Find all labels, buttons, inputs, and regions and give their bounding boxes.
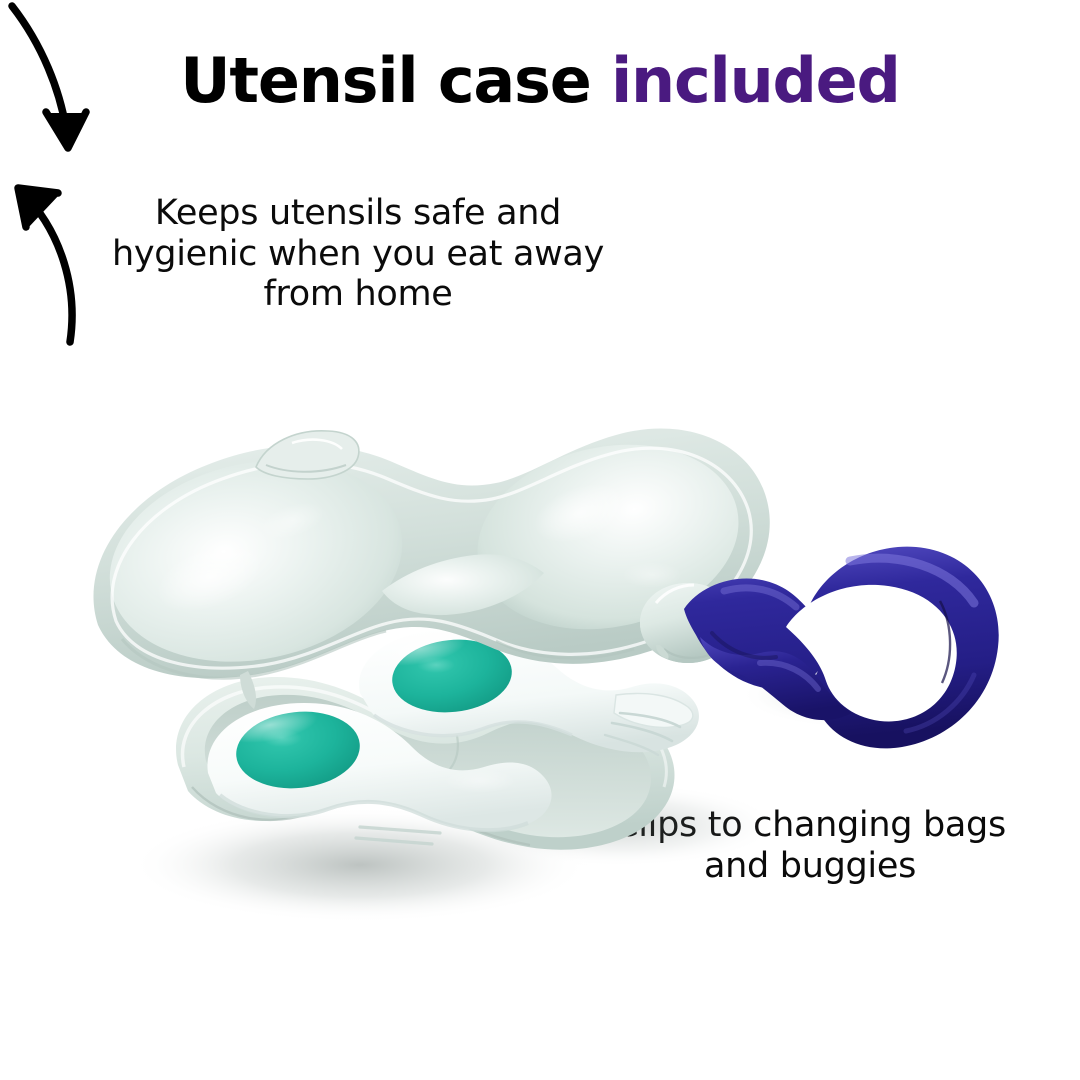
callout-text-case-hygiene: Keeps utensils safe and hygienic when yo… [58, 193, 658, 315]
page-title: Utensil case included [0, 48, 1080, 113]
product-image [60, 395, 1020, 925]
page-title-black: Utensil case [180, 44, 611, 117]
callout-arrow-up-icon [0, 170, 140, 350]
callout-arrow-down-icon [0, 0, 140, 170]
case-latch[interactable] [256, 431, 359, 479]
page-title-accent: included [611, 44, 900, 117]
